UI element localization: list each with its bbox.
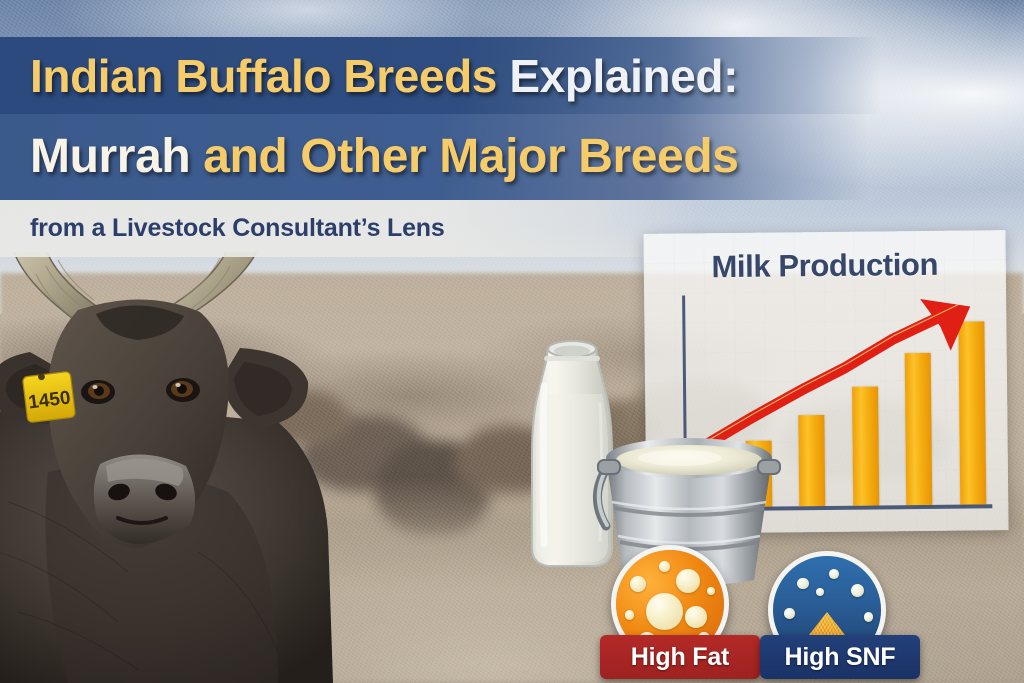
badge-high-snf[interactable]: High SNF — [760, 635, 920, 679]
title-band-primary: Indian Buffalo Breeds Explained: — [0, 37, 880, 114]
fat-globule — [659, 561, 670, 572]
title-line-2-highlight: Murrah — [30, 130, 190, 183]
title-line-1-highlight: Indian Buffalo Breeds — [30, 50, 497, 102]
fat-globule — [685, 606, 707, 628]
snf-pearl — [797, 578, 809, 590]
title-band-secondary: Murrah and Other Major Breeds — [0, 114, 868, 200]
title-line-2: Murrah and Other Major Breeds — [0, 133, 739, 181]
chart-title: Milk Production — [644, 246, 1006, 286]
buffalo-photo: 1450 — [0, 252, 398, 683]
title-line-1-rest: Explained: — [509, 50, 738, 102]
subtitle-band: from a Livestock Consultant’s Lens — [0, 200, 700, 257]
snf-pearl — [829, 569, 839, 579]
snf-pearl — [851, 584, 864, 597]
subtitle-text: from a Livestock Consultant’s Lens — [0, 214, 445, 243]
fat-globule — [646, 593, 683, 630]
title-line-2-rest: and Other Major Breeds — [203, 130, 738, 183]
title-line-1: Indian Buffalo Breeds Explained: — [0, 53, 738, 99]
poster-canvas: 1450 Indian Buffalo Breeds Explained: Mu… — [0, 0, 1024, 683]
chart-bar — [852, 386, 879, 506]
chart-bar — [905, 353, 933, 506]
badge-high-snf-label: High SNF — [785, 643, 896, 672]
snf-pearl — [816, 588, 824, 596]
chart-bar — [799, 415, 826, 506]
chart-bar — [958, 321, 986, 504]
badge-high-fat[interactable]: High Fat — [600, 635, 760, 679]
ear-tag: 1450 — [22, 371, 75, 423]
badge-high-fat-label: High Fat — [631, 643, 729, 672]
snf-pearl — [784, 608, 795, 619]
